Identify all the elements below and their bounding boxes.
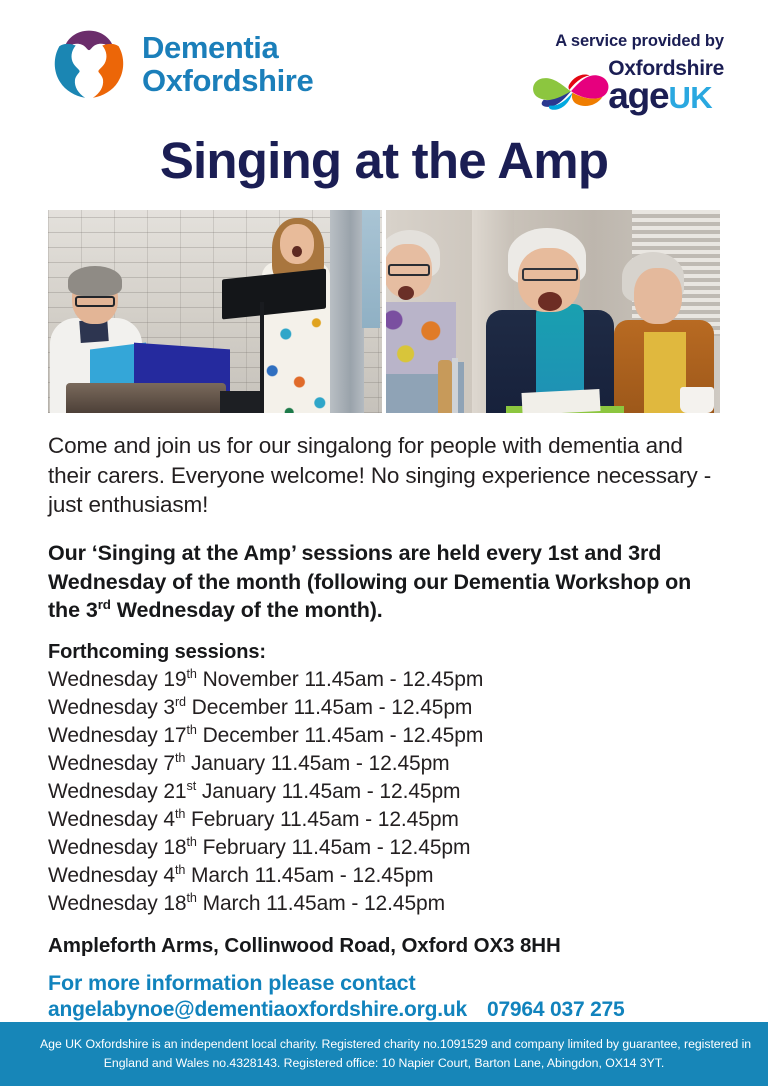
intro-paragraph: Come and join us for our singalong for p… <box>48 431 720 520</box>
napkin <box>521 389 600 413</box>
tea-cup <box>680 387 714 413</box>
session-date-ordinal: th <box>187 835 197 849</box>
ageuk-wordmark: Oxfordshire ageUK <box>608 58 724 113</box>
session-date-prefix: Wednesday 17 <box>48 724 187 747</box>
photo-keyboard-and-singer <box>48 210 382 413</box>
session-date-suffix: November 11.45am - 12.45pm <box>197 668 483 691</box>
dementia-oxfordshire-brand: Dementia Oxfordshire <box>50 26 313 104</box>
session-date-ordinal: th <box>187 891 197 905</box>
list-item: Wednesday 3rd December 11.45am - 12.45pm <box>48 694 720 722</box>
schedule-statement-part2: Wednesday of the month). <box>111 598 383 622</box>
contact-heading: For more information please contact <box>48 971 720 996</box>
photo-strip <box>48 210 720 413</box>
list-item: Wednesday 21st January 11.45am - 12.45pm <box>48 778 720 806</box>
session-date-ordinal: rd <box>175 695 186 709</box>
session-date-prefix: Wednesday 4 <box>48 808 175 831</box>
session-date-ordinal: st <box>187 779 197 793</box>
session-date-suffix: December 11.45am - 12.45pm <box>186 696 472 719</box>
ageuk-swoosh-icon <box>528 63 614 115</box>
tambourine <box>438 360 452 413</box>
session-date-ordinal: th <box>187 667 197 681</box>
forthcoming-sessions-label: Forthcoming sessions: <box>48 641 720 664</box>
legal-footer: Age UK Oxfordshire is an independent loc… <box>0 1022 768 1086</box>
schedule-statement-ordinal: rd <box>98 597 111 612</box>
session-date-suffix: February 11.45am - 12.45pm <box>197 836 471 859</box>
list-item: Wednesday 7th January 11.45am - 12.45pm <box>48 750 720 778</box>
list-item: Wednesday 18th February 11.45am - 12.45p… <box>48 834 720 862</box>
session-date-ordinal: th <box>187 723 197 737</box>
schedule-statement: Our ‘Singing at the Amp’ sessions are he… <box>48 539 720 625</box>
footer-line-2: England and Wales no.4328143. Registered… <box>40 1054 728 1072</box>
session-date-suffix: December 11.45am - 12.45pm <box>197 724 483 747</box>
music-stand-pole <box>260 302 264 413</box>
ageuk-oxfordshire-logo: Oxfordshire ageUK <box>528 58 724 113</box>
session-date-prefix: Wednesday 7 <box>48 752 175 775</box>
list-item: Wednesday 17th December 11.45am - 12.45p… <box>48 722 720 750</box>
page-title: Singing at the Amp <box>0 135 768 186</box>
three-people-circle-logo-icon <box>50 26 128 104</box>
photo-three-women-singing <box>386 210 720 413</box>
list-item: Wednesday 4th March 11.45am - 12.45pm <box>48 862 720 890</box>
poster: Dementia Oxfordshire A service provided … <box>0 0 768 1086</box>
session-date-prefix: Wednesday 3 <box>48 696 175 719</box>
ageuk-main-wordmark: ageUK <box>608 78 724 113</box>
keyboard-instrument <box>66 383 226 413</box>
session-date-suffix: March 11.45am - 12.45pm <box>185 864 433 887</box>
list-item: Wednesday 4th February 11.45am - 12.45pm <box>48 806 720 834</box>
session-date-prefix: Wednesday 18 <box>48 836 187 859</box>
session-date-prefix: Wednesday 4 <box>48 864 175 887</box>
door-frame <box>330 210 364 413</box>
singer-face <box>280 224 314 264</box>
sessions-list: Wednesday 19th November 11.45am - 12.45p… <box>48 666 720 918</box>
session-date-ordinal: th <box>175 751 185 765</box>
woman-left-glasses <box>388 264 430 276</box>
ageuk-age-label: age <box>608 75 668 116</box>
session-date-ordinal: th <box>175 807 185 821</box>
woman-middle-glasses <box>522 268 578 281</box>
brand-line-2: Oxfordshire <box>142 65 313 98</box>
list-item: Wednesday 18th March 11.45am - 12.45pm <box>48 890 720 918</box>
session-date-prefix: Wednesday 21 <box>48 780 187 803</box>
poster-content: Come and join us for our singalong for p… <box>0 431 768 1022</box>
session-date-prefix: Wednesday 18 <box>48 892 187 915</box>
contact-email[interactable]: angelabynoe@dementiaoxfordshire.org.uk <box>48 998 467 1021</box>
session-date-suffix: January 11.45am - 12.45pm <box>196 780 460 803</box>
session-date-suffix: March 11.45am - 12.45pm <box>197 892 445 915</box>
window-pane <box>362 210 380 328</box>
list-item: Wednesday 19th November 11.45am - 12.45p… <box>48 666 720 694</box>
service-provider-block: A service provided by Oxfordshire <box>528 26 724 113</box>
contact-phone[interactable]: 07964 037 275 <box>487 998 625 1021</box>
service-provided-by-label: A service provided by <box>528 32 724 51</box>
footer-line-1: Age UK Oxfordshire is an independent loc… <box>40 1035 728 1053</box>
woman-right-face <box>634 268 682 324</box>
keyboard-player-hair <box>68 266 122 296</box>
ageuk-uk-label: UK <box>668 80 712 115</box>
brand-line-1: Dementia <box>142 32 313 65</box>
venue-address: Ampleforth Arms, Collinwood Road, Oxford… <box>48 934 720 958</box>
brand-wordmark: Dementia Oxfordshire <box>142 32 313 98</box>
session-date-ordinal: th <box>175 863 185 877</box>
session-date-suffix: January 11.45am - 12.45pm <box>185 752 449 775</box>
session-date-suffix: February 11.45am - 12.45pm <box>185 808 459 831</box>
contact-details: angelabynoe@dementiaoxfordshire.org.uk07… <box>48 998 720 1022</box>
poster-header: Dementia Oxfordshire A service provided … <box>0 0 768 133</box>
keyboard-player-glasses <box>75 296 115 307</box>
session-date-prefix: Wednesday 19 <box>48 668 187 691</box>
